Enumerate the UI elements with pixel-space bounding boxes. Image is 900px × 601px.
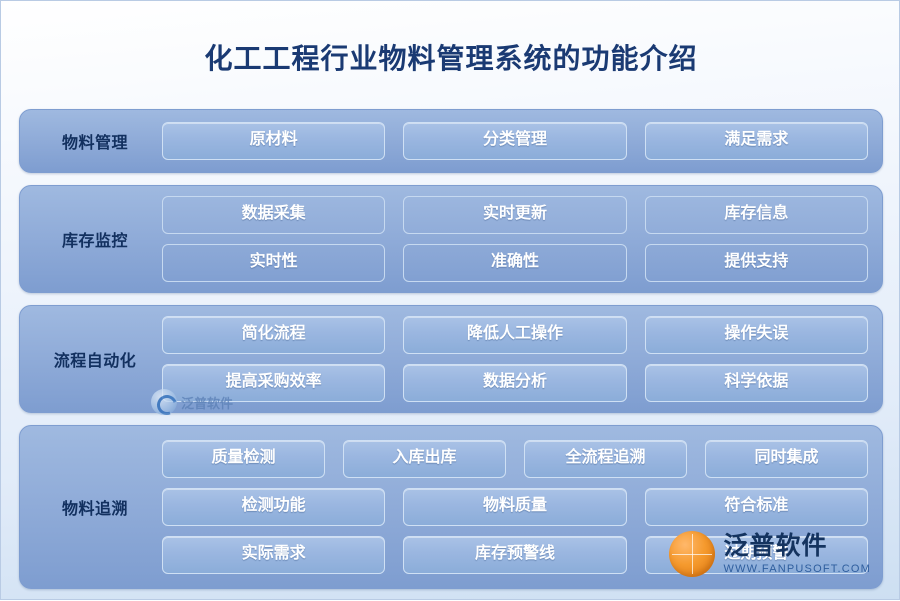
group-label: 流程自动化 [34,347,162,371]
feature-cell[interactable]: 实际需求 [162,536,385,574]
brand-logo: 泛普软件 WWW.FANPUSOFT.COM [669,531,871,577]
feature-cell[interactable]: 分类管理 [403,122,626,160]
feature-cell[interactable]: 检测功能 [162,488,385,526]
group-cells: 数据采集 实时更新 库存信息 实时性 准确性 提供支持 [162,196,868,282]
group-row-material-management: 物料管理 原材料 分类管理 满足需求 [19,109,883,173]
brand-text: 泛普软件 WWW.FANPUSOFT.COM [723,533,871,574]
feature-cell[interactable]: 质量检测 [162,440,325,478]
group-label: 物料追溯 [34,495,162,519]
globe-icon [669,531,715,577]
cell-row: 简化流程 降低人工操作 操作失误 [162,316,868,354]
feature-cell[interactable]: 符合标准 [645,488,868,526]
group-label: 物料管理 [34,129,162,153]
feature-cell[interactable]: 同时集成 [705,440,868,478]
cell-row: 检测功能 物料质量 符合标准 [162,488,868,526]
feature-cell[interactable]: 提高采购效率 [162,364,385,402]
feature-cell[interactable]: 实时性 [162,244,385,282]
cell-row: 数据采集 实时更新 库存信息 [162,196,868,234]
feature-cell[interactable]: 物料质量 [403,488,626,526]
brand-url: WWW.FANPUSOFT.COM [723,563,871,575]
feature-cell[interactable]: 实时更新 [403,196,626,234]
group-cells: 原材料 分类管理 满足需求 [162,122,868,160]
feature-cell[interactable]: 入库出库 [343,440,506,478]
cell-row: 实时性 准确性 提供支持 [162,244,868,282]
group-cells: 简化流程 降低人工操作 操作失误 提高采购效率 数据分析 科学依据 [162,316,868,402]
group-row-process-automation: 流程自动化 简化流程 降低人工操作 操作失误 提高采购效率 数据分析 科学依据 [19,305,883,413]
group-row-inventory-monitoring: 库存监控 数据采集 实时更新 库存信息 实时性 准确性 提供支持 [19,185,883,293]
feature-cell[interactable]: 全流程追溯 [524,440,687,478]
feature-cell[interactable]: 科学依据 [645,364,868,402]
infographic-page: 化工工程行业物料管理系统的功能介绍 物料管理 原材料 分类管理 满足需求 库存监… [0,0,900,600]
page-title: 化工工程行业物料管理系统的功能介绍 [1,37,900,77]
feature-cell[interactable]: 准确性 [403,244,626,282]
group-label: 库存监控 [34,227,162,251]
feature-cell[interactable]: 库存信息 [645,196,868,234]
cell-row: 质量检测 入库出库 全流程追溯 同时集成 [162,440,868,478]
feature-cell[interactable]: 提供支持 [645,244,868,282]
feature-cell[interactable]: 数据采集 [162,196,385,234]
cell-row: 提高采购效率 数据分析 科学依据 [162,364,868,402]
feature-cell[interactable]: 数据分析 [403,364,626,402]
feature-cell[interactable]: 简化流程 [162,316,385,354]
feature-cell[interactable]: 原材料 [162,122,385,160]
feature-cell[interactable]: 降低人工操作 [403,316,626,354]
group-list: 物料管理 原材料 分类管理 满足需求 库存监控 数据采集 实时更新 库存信息 实… [19,109,883,601]
brand-name: 泛普软件 [723,533,871,559]
feature-cell[interactable]: 满足需求 [645,122,868,160]
feature-cell[interactable]: 库存预警线 [403,536,626,574]
cell-row: 原材料 分类管理 满足需求 [162,122,868,160]
feature-cell[interactable]: 操作失误 [645,316,868,354]
